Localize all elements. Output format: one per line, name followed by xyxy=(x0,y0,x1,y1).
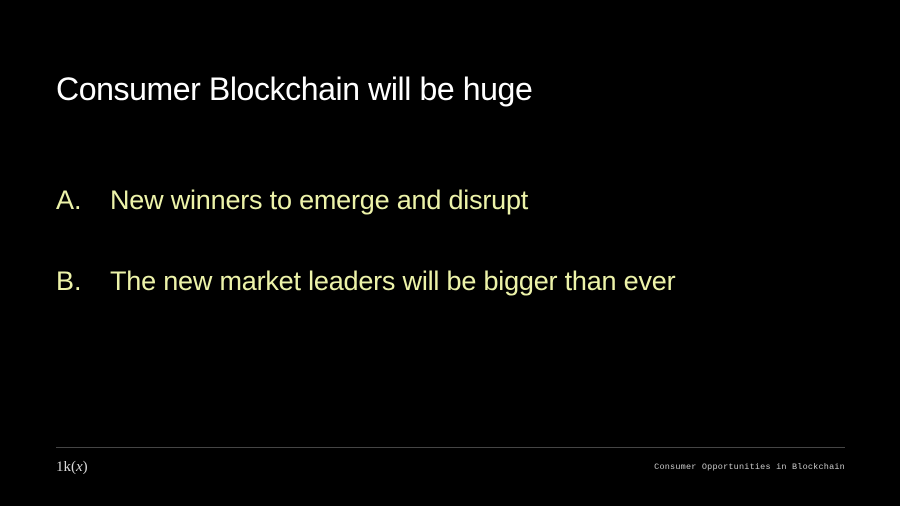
list-item-label: New winners to emerge and disrupt xyxy=(110,186,528,216)
page-title: Consumer Blockchain will be huge xyxy=(56,70,532,108)
brand-logo-x: x xyxy=(76,459,83,475)
list-item: B. The new market leaders will be bigger… xyxy=(56,267,856,348)
brand-logo: 1k(x) xyxy=(56,459,88,476)
presentation-slide: Consumer Blockchain will be huge A. New … xyxy=(0,0,900,506)
slide-footer: 1k(x) Consumer Opportunities in Blockcha… xyxy=(56,455,845,479)
list-item-marker: A. xyxy=(56,186,110,216)
lettered-list: A. New winners to emerge and disrupt B. … xyxy=(56,186,856,348)
footer-divider xyxy=(56,447,845,448)
list-item: A. New winners to emerge and disrupt xyxy=(56,186,856,267)
list-item-label: The new market leaders will be bigger th… xyxy=(110,267,675,297)
deck-title: Consumer Opportunities in Blockchain xyxy=(654,462,845,472)
list-item-marker: B. xyxy=(56,267,110,297)
brand-logo-suffix: ) xyxy=(83,459,88,475)
brand-logo-prefix: 1k( xyxy=(56,459,76,475)
